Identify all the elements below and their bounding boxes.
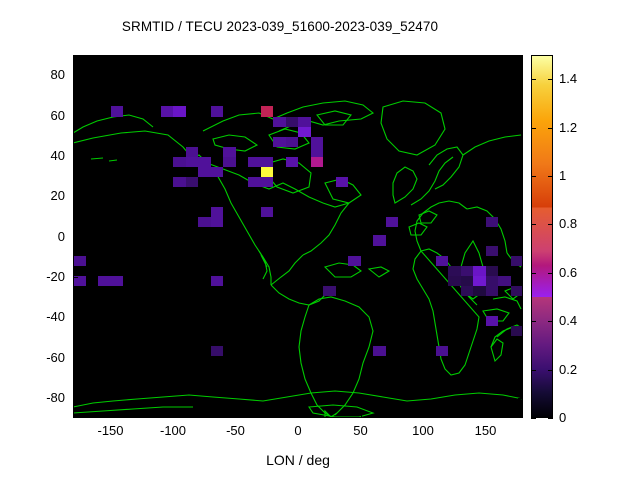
heatmap-cell [486,316,499,326]
colorbar-tick-mark [531,273,536,274]
colorbar [531,55,553,418]
heatmap-cell [186,147,199,157]
heatmap-cell [173,106,186,116]
heatmap-cell [486,266,499,276]
x-axis-tick-mark [298,55,299,60]
heatmap-cell [461,266,474,276]
colorbar-tick-mark [531,176,536,177]
colorbar-tick-mark [548,418,553,419]
colorbar-tick-mark [548,79,553,80]
y-axis-tick-label: 0 [0,229,65,244]
y-axis-tick-mark [518,277,523,278]
colorbar-tick-label: 0.8 [559,216,577,231]
y-axis-tick-label: -60 [0,350,65,365]
colorbar-tick-mark [531,224,536,225]
heatmap-cell [273,137,286,147]
heatmap-cell [336,177,349,187]
x-axis-tick-mark [236,413,237,418]
y-axis-tick-label: 40 [0,148,65,163]
y-axis-tick-mark [518,358,523,359]
heatmap-cell [211,217,224,227]
heatmap-cell [373,346,386,356]
heatmap-cell [261,106,274,116]
heatmap-cell [323,286,336,296]
heatmap-cell [223,147,236,157]
y-axis-tick-mark [73,358,78,359]
heatmap-cell [373,235,386,245]
heatmap-cell [473,266,486,276]
heatmap-cell [173,177,186,187]
x-axis-tick-mark [423,55,424,60]
y-axis-tick-mark [518,116,523,117]
heatmap-cell [73,256,86,266]
y-axis-tick-mark [73,317,78,318]
heatmap-cell [473,276,486,286]
x-axis-label: LON / deg [73,452,523,468]
heatmap-cell [486,276,499,286]
x-axis-tick-mark [423,413,424,418]
heatmap-cell [211,106,224,116]
heatmap-cell [248,157,261,167]
heatmap-cell [511,256,524,266]
x-axis-tick-mark [173,413,174,418]
colorbar-tick-mark [548,321,553,322]
heatmap-cell [186,177,199,187]
x-axis-tick-label: 50 [331,423,391,438]
heatmap-cell [211,167,224,177]
plot-root: SRMTID / TECU 2023-039_51600-2023-039_52… [0,0,640,480]
heatmap-cell [298,117,311,127]
heatmap-cell [511,326,524,336]
y-axis-tick-mark [518,237,523,238]
heatmap-cell [261,167,274,177]
x-axis-tick-label: 150 [456,423,516,438]
heatmap-cell [223,157,236,167]
y-axis-tick-mark [518,75,523,76]
heatmap-cell [436,256,449,266]
heatmap-cell [198,217,211,227]
y-axis-tick-label: 20 [0,188,65,203]
y-axis-tick-mark [518,156,523,157]
x-axis-tick-mark [173,55,174,60]
heatmap-cell [286,117,299,127]
y-axis-tick-label: -20 [0,269,65,284]
colorbar-tick-label: 1 [559,168,566,183]
heatmap-cell [198,157,211,167]
heatmap-cell [211,346,224,356]
heatmap-cell [311,157,324,167]
x-axis-tick-mark [361,413,362,418]
colorbar-tick-mark [531,79,536,80]
heatmap-cell [111,276,124,286]
colorbar-tick-mark [548,176,553,177]
heatmap-cell [311,147,324,157]
x-axis-tick-label: -50 [206,423,266,438]
y-axis-tick-mark [518,317,523,318]
heatmap-cell [198,167,211,177]
heatmap-cell [486,217,499,227]
y-axis-tick-mark [73,196,78,197]
y-axis-tick-mark [73,237,78,238]
x-axis-tick-label: -100 [143,423,203,438]
heatmap-cell [498,276,511,286]
colorbar-tick-mark [548,128,553,129]
y-axis-tick-mark [73,277,78,278]
y-axis-tick-mark [73,116,78,117]
colorbar-tick-mark [531,321,536,322]
x-axis-tick-mark [111,55,112,60]
y-axis-tick-mark [73,398,78,399]
heatmap-cell [448,266,461,276]
colorbar-tick-mark [548,224,553,225]
heatmap-cell [211,276,224,286]
colorbar-tick-label: 0.4 [559,313,577,328]
y-axis-tick-mark [518,196,523,197]
heatmap-cell [161,106,174,116]
colorbar-tick-label: 0 [559,410,566,425]
heatmap-cell [461,276,474,286]
heatmap-cell [311,137,324,147]
y-axis-tick-label: -80 [0,390,65,405]
x-axis-tick-mark [486,413,487,418]
heatmap-cell [248,177,261,187]
heatmap-cell [386,217,399,227]
y-axis-tick-label: 60 [0,108,65,123]
x-axis-tick-mark [298,413,299,418]
colorbar-tick-mark [531,418,536,419]
colorbar-tick-label: 0.2 [559,362,577,377]
x-axis-tick-mark [361,55,362,60]
heatmap-cell [111,106,124,116]
colorbar-tick-mark [531,370,536,371]
y-axis-tick-mark [518,398,523,399]
colorbar-tick-mark [548,370,553,371]
heatmap-cell [298,127,311,137]
x-axis-tick-label: -150 [81,423,141,438]
heatmap-cell [261,177,274,187]
heatmap-cell [286,137,299,147]
colorbar-tick-mark [548,273,553,274]
heatmap-cell [211,207,224,217]
y-axis-tick-mark [73,156,78,157]
coastline-overlay [73,55,523,418]
x-axis-tick-label: 0 [268,423,328,438]
heatmap-cell [348,256,361,266]
heatmap-cell [436,346,449,356]
heatmap-cell [186,157,199,167]
y-axis-tick-mark [73,75,78,76]
heatmap-cell [473,286,486,296]
heatmap-cell [273,117,286,127]
x-axis-tick-mark [236,55,237,60]
colorbar-tick-label: 0.6 [559,265,577,280]
x-axis-tick-label: 100 [393,423,453,438]
heatmap-cell [486,246,499,256]
colorbar-tick-mark [531,128,536,129]
colorbar-tick-label: 1.2 [559,120,577,135]
heatmap-cell [98,276,111,286]
heatmap-plot-area [73,55,523,418]
y-axis-tick-label: -40 [0,309,65,324]
y-axis-tick-label: 80 [0,67,65,82]
x-axis-tick-mark [111,413,112,418]
heatmap-cell [486,286,499,296]
heatmap-cell [448,276,461,286]
heatmap-cell [261,207,274,217]
x-axis-tick-mark [486,55,487,60]
heatmap-cell [261,157,274,167]
page-title: SRMTID / TECU 2023-039_51600-2023-039_52… [0,19,560,34]
heatmap-cell [511,286,524,296]
heatmap-cell [173,157,186,167]
heatmap-cell [461,286,474,296]
colorbar-tick-label: 1.4 [559,71,577,86]
heatmap-cell [286,157,299,167]
